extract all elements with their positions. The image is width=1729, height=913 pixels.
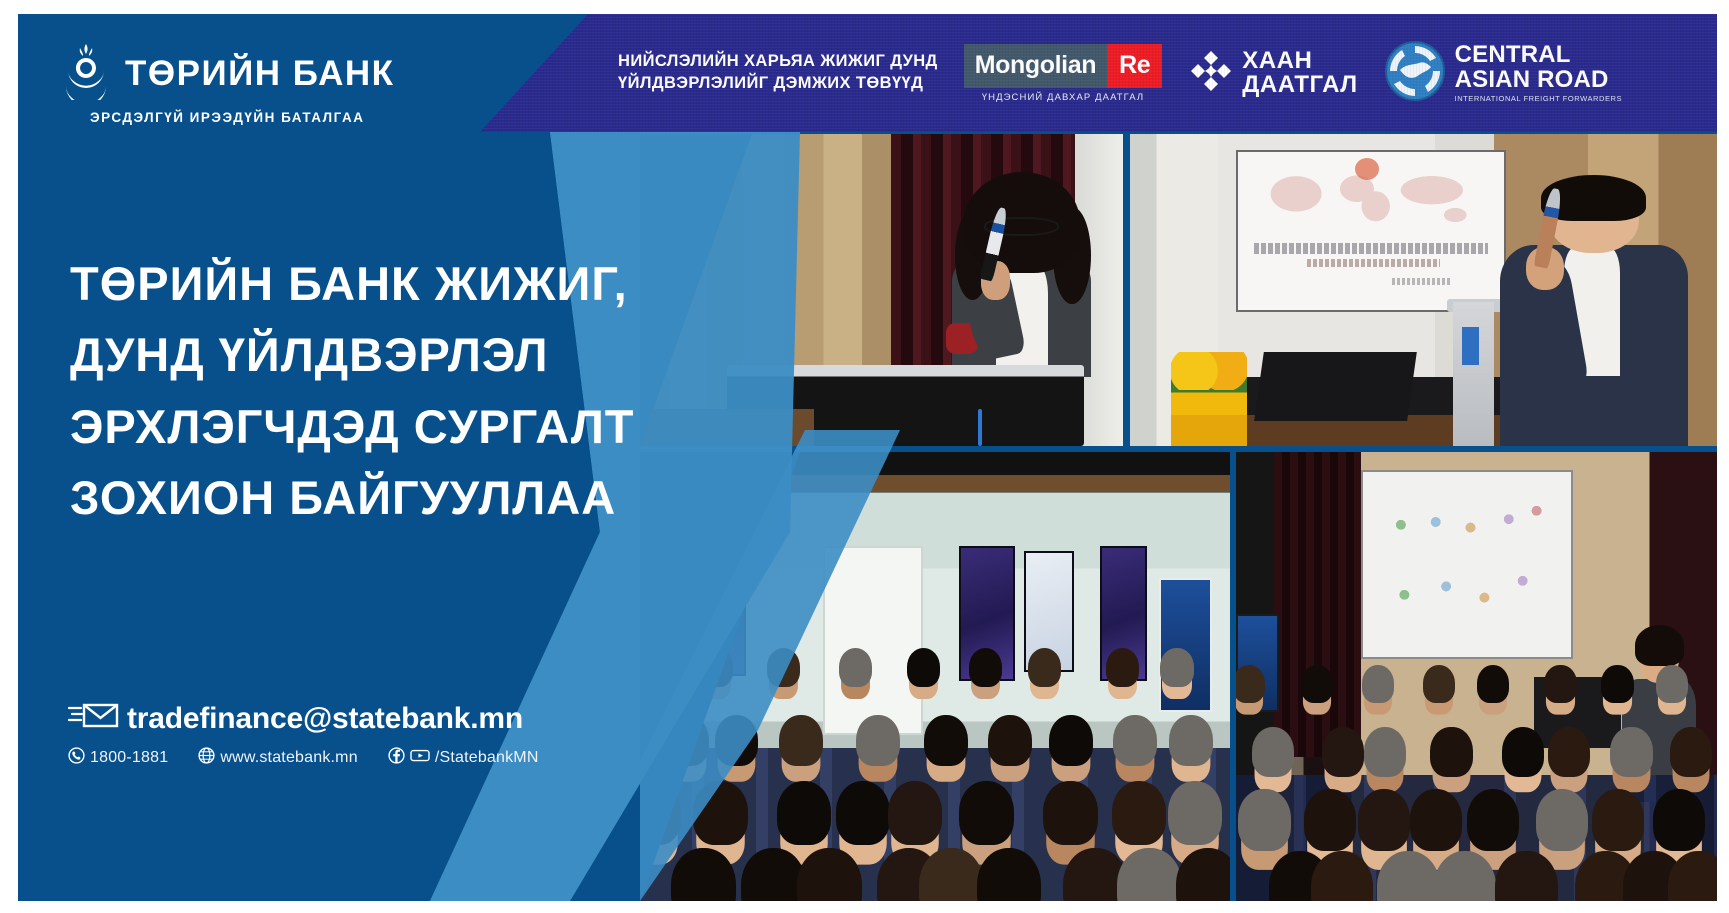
audience-head bbox=[1423, 665, 1455, 703]
photo-lecture-hall bbox=[1236, 452, 1717, 901]
facebook-icon[interactable] bbox=[388, 747, 405, 769]
photo2-projection-screen bbox=[1236, 150, 1506, 312]
audience-head bbox=[1668, 851, 1718, 901]
car-subtitle: INTERNATIONAL FREIGHT FORWARDERS bbox=[1455, 94, 1622, 103]
audience-head bbox=[977, 848, 1042, 901]
mongolian-re-wordmark: Mongolian Re bbox=[964, 44, 1163, 88]
state-bank-name: ТӨРИЙН БАНК bbox=[125, 54, 395, 94]
audience-head bbox=[1112, 781, 1166, 845]
globe-icon bbox=[198, 747, 215, 769]
contact-details-row: 1800-1881 www.statebank.mn bbox=[68, 747, 588, 769]
car-line-1: CENTRAL bbox=[1455, 43, 1622, 67]
audience-head bbox=[779, 715, 823, 767]
photo2-yellow-flowers bbox=[1171, 352, 1247, 389]
audience-head bbox=[741, 848, 806, 901]
audience-head bbox=[1592, 789, 1644, 851]
contact-phone[interactable]: 1800-1881 bbox=[68, 747, 168, 769]
audience-head bbox=[1377, 851, 1439, 901]
audience-head bbox=[924, 715, 968, 767]
audience-head bbox=[777, 781, 831, 845]
audience-head bbox=[1430, 727, 1472, 777]
audience-head bbox=[1610, 727, 1652, 777]
photo2-laptop bbox=[1254, 352, 1416, 421]
contact-email-row[interactable]: tradefinance@statebank.mn bbox=[68, 700, 588, 738]
car-line-2: ASIAN ROAD bbox=[1455, 67, 1622, 92]
audience-head bbox=[671, 848, 736, 901]
audience-head bbox=[1477, 665, 1509, 703]
state-bank-logo: ТӨРИЙН БАНК ЭРСДЭЛГҮЙ ИРЭЭДҮЙН БАТАЛГАА bbox=[60, 42, 395, 125]
audience-head bbox=[1049, 715, 1093, 767]
khaan-wordmark: ХААН ДААТГАЛ bbox=[1242, 49, 1357, 97]
contact-block: tradefinance@statebank.mn 1800-1881 bbox=[68, 700, 588, 769]
contact-website-text: www.statebank.mn bbox=[220, 749, 357, 767]
photo2-document-visualizer bbox=[1453, 302, 1494, 446]
audience-head bbox=[797, 848, 862, 901]
contact-email-text: tradefinance@statebank.mn bbox=[127, 702, 523, 736]
organizer-text: НИЙСЛЭЛИЙН ХАРЬЯА ЖИЖИГ ДУНД ҮЙЛДВЭРЛЭЛИ… bbox=[618, 51, 938, 95]
audience-head bbox=[1544, 665, 1576, 703]
audience-head bbox=[888, 781, 942, 845]
photo4-slide-diagram bbox=[1380, 494, 1554, 634]
partner-banner-content: НИЙСЛЭЛИЙН ХАРЬЯА ЖИЖИГ ДУНД ҮЙЛДВЭРЛЭЛИ… bbox=[618, 14, 1717, 132]
audience-head bbox=[988, 715, 1032, 767]
audience-head bbox=[1252, 727, 1294, 777]
contact-phone-text: 1800-1881 bbox=[90, 749, 168, 767]
audience-head bbox=[1656, 665, 1688, 703]
audience-head bbox=[1670, 727, 1712, 777]
audience-head bbox=[1043, 781, 1097, 845]
globe-arrows-icon bbox=[1384, 40, 1446, 107]
photo4-audience-heads bbox=[1236, 659, 1717, 901]
audience-head bbox=[1238, 789, 1290, 851]
envelope-icon bbox=[68, 700, 120, 738]
state-bank-logo-row: ТӨРИЙН БАНК bbox=[60, 42, 395, 105]
partner-logo-khaan-daatgal: ХААН ДААТГАЛ bbox=[1188, 48, 1357, 99]
contact-social[interactable]: /StatebankMN bbox=[388, 747, 539, 769]
audience-head bbox=[1364, 727, 1406, 777]
organizer-line-1: НИЙСЛЭЛИЙН ХАРЬЯА ЖИЖИГ ДУНД bbox=[618, 51, 938, 73]
audience-head bbox=[1236, 665, 1265, 703]
partner-logo-central-asian-road: CENTRAL ASIAN ROAD INTERNATIONAL FREIGHT… bbox=[1384, 40, 1622, 107]
contact-website[interactable]: www.statebank.mn bbox=[198, 747, 357, 769]
audience-head bbox=[1536, 789, 1588, 851]
audience-head bbox=[1434, 851, 1496, 901]
headline-line-2: ДУНД ҮЙЛДВЭРЛЭЛ bbox=[70, 319, 670, 390]
audience-head bbox=[1358, 789, 1410, 851]
audience-head bbox=[1117, 848, 1182, 901]
audience-head bbox=[1467, 789, 1519, 851]
audience-head bbox=[1028, 648, 1061, 688]
organizer-line-2: ҮЙЛДВЭРЛЭЛИЙГ ДЭМЖИХ ТӨВҮҮД bbox=[618, 73, 938, 95]
photo2-speaker-figure bbox=[1500, 178, 1688, 446]
mongolian-re-name: Mongolian bbox=[964, 44, 1107, 88]
audience-head bbox=[836, 781, 890, 845]
khaan-floral-icon bbox=[1188, 48, 1234, 99]
photo2-slide-subtitle-line bbox=[1307, 259, 1440, 267]
photo1-blue-cable bbox=[978, 409, 982, 446]
khaan-line-2: ДААТГАЛ bbox=[1242, 73, 1357, 97]
photo1-speaker-figure bbox=[949, 184, 1094, 377]
headline-line-3: ЭРХЛЭГЧДЭД СУРГАЛТ bbox=[70, 391, 670, 462]
state-bank-tagline: ЭРСДЭЛГҮЙ ИРЭЭДҮЙН БАТАЛГАА bbox=[90, 110, 364, 125]
poster-root: НИЙСЛЭЛИЙН ХАРЬЯА ЖИЖИГ ДУНД ҮЙЛДВЭРЛЭЛИ… bbox=[0, 0, 1729, 913]
audience-head bbox=[1106, 648, 1139, 688]
audience-head bbox=[1410, 789, 1462, 851]
central-asian-road-wordmark: CENTRAL ASIAN ROAD INTERNATIONAL FREIGHT… bbox=[1455, 43, 1622, 103]
youtube-icon[interactable] bbox=[410, 747, 430, 769]
page-title: ТӨРИЙН БАНК ЖИЖИГ, ДУНД ҮЙЛДВЭРЛЭЛ ЭРХЛЭ… bbox=[70, 248, 670, 534]
photo4-projection-screen bbox=[1361, 470, 1573, 659]
mongolian-re-subtitle: ҮНДЭСНИЙ ДАВХАР ДААТГАЛ bbox=[982, 92, 1145, 103]
contact-social-text: /StatebankMN bbox=[435, 749, 539, 767]
mongolian-re-suffix: Re bbox=[1107, 44, 1162, 88]
audience-head bbox=[1301, 665, 1333, 703]
headline-line-1: ТӨРИЙН БАНК ЖИЖИГ, bbox=[70, 248, 670, 319]
audience-head bbox=[1168, 781, 1222, 845]
audience-head bbox=[1176, 848, 1230, 901]
audience-head bbox=[1362, 665, 1394, 703]
audience-head bbox=[1304, 789, 1356, 851]
audience-head bbox=[969, 648, 1002, 688]
audience-head bbox=[1495, 851, 1557, 901]
audience-head bbox=[1322, 727, 1364, 777]
audience-head bbox=[1160, 648, 1193, 688]
partner-logo-mongolian-re: Mongolian Re ҮНДЭСНИЙ ДАВХАР ДААТГАЛ bbox=[964, 44, 1163, 103]
audience-head bbox=[1601, 665, 1633, 703]
photo-speaker-man bbox=[1130, 134, 1717, 446]
audience-head bbox=[1113, 715, 1157, 767]
audience-head bbox=[1169, 715, 1213, 767]
photo2-slide-title-line bbox=[1254, 243, 1488, 254]
audience-head bbox=[1502, 727, 1544, 777]
phone-icon bbox=[68, 747, 85, 769]
audience-head bbox=[959, 781, 1013, 845]
audience-head bbox=[907, 648, 940, 688]
photo2-slide-date-line bbox=[1392, 278, 1451, 284]
soyombo-flame-icon bbox=[60, 42, 112, 105]
audience-head bbox=[839, 648, 872, 688]
headline-line-4: ЗОХИОН БАЙГУУЛЛАА bbox=[70, 462, 670, 533]
khaan-line-1: ХААН bbox=[1242, 49, 1357, 73]
audience-head bbox=[919, 848, 984, 901]
photo2-slide-logo bbox=[1355, 158, 1379, 180]
audience-head bbox=[1548, 727, 1590, 777]
photo2-visualizer-buttons bbox=[1462, 327, 1480, 364]
audience-head bbox=[856, 715, 900, 767]
audience-head bbox=[1653, 789, 1705, 851]
